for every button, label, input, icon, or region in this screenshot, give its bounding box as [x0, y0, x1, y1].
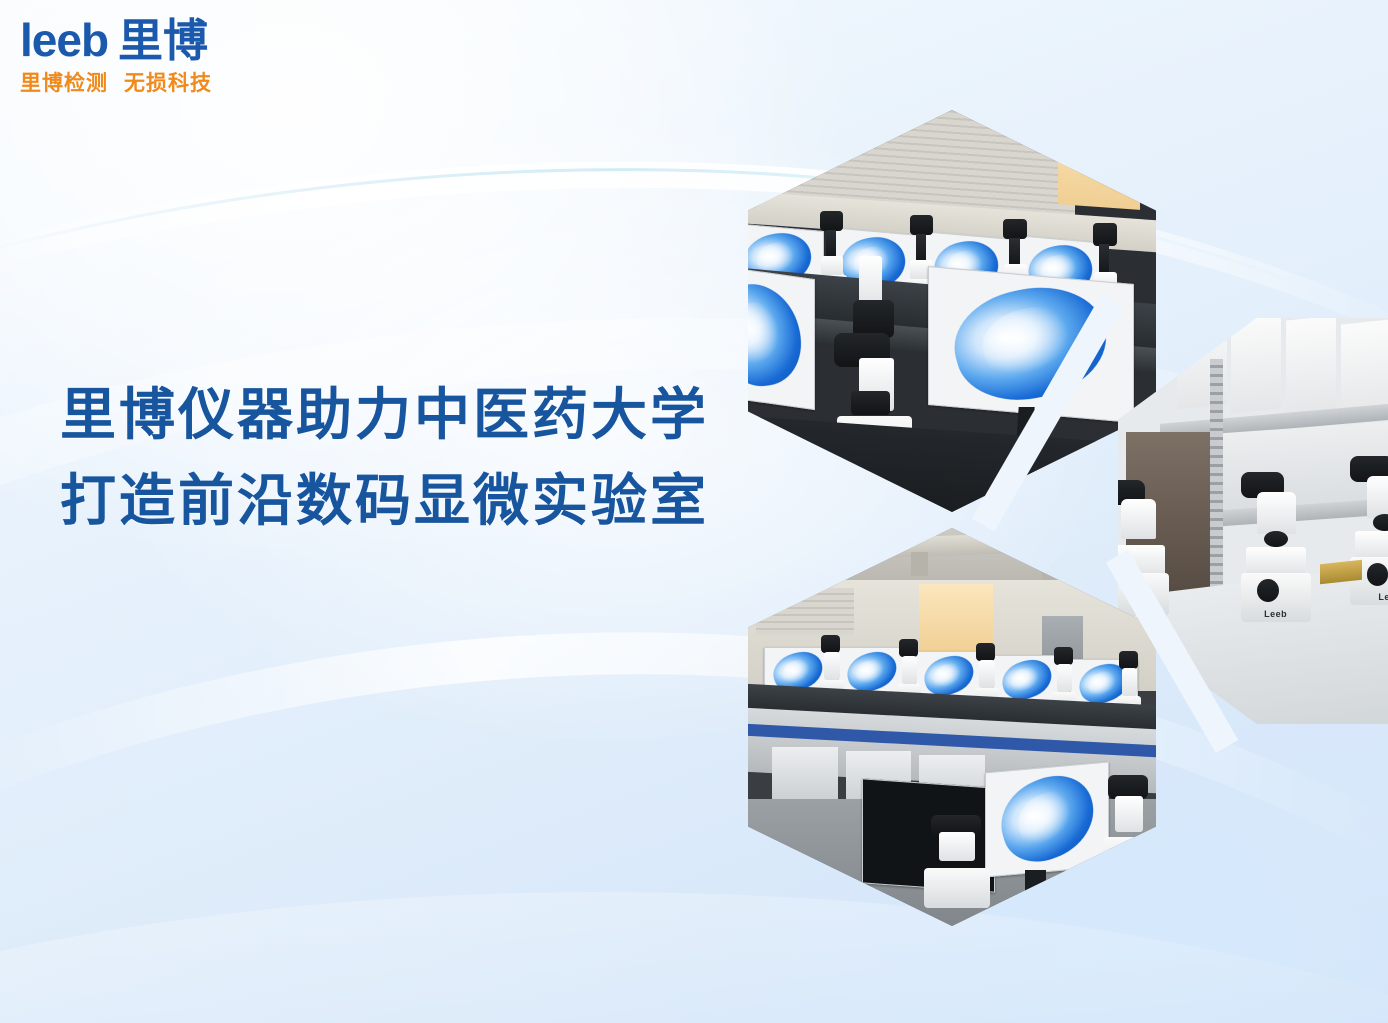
photo-hex-bottom	[748, 528, 1156, 926]
lab-bench-photo: Leeb	[748, 110, 1156, 512]
warehouse-microscopes-photo: Leeb Leeb	[1118, 318, 1388, 724]
headline-block: 里博仪器助力中医药大学 打造前沿数码显微实验室	[60, 372, 760, 544]
brand-logo: leeb里博 里博检测无损科技	[20, 16, 320, 97]
poster-canvas: leeb里博 里博检测无损科技 里博仪器助力中医药大学 打造前沿数码显微实验室	[0, 0, 1388, 1023]
lab-overview-photo	[748, 528, 1156, 926]
photo-hex-top: Leeb	[748, 110, 1156, 512]
logo-latin-text: leeb	[20, 14, 108, 66]
background-glow-bottom-right	[688, 603, 1388, 1023]
logo-chinese-text: 里博	[118, 15, 208, 66]
logo-tagline-right: 无损科技	[124, 72, 212, 95]
logo-wordmark: leeb里博	[20, 16, 320, 64]
logo-tagline-left: 里博检测	[20, 72, 108, 95]
hex-seam-top-right	[972, 294, 1125, 532]
headline-line-1: 里博仪器助力中医药大学	[60, 372, 760, 458]
photo-hex-right: Leeb Leeb	[1118, 318, 1388, 724]
headline-line-2: 打造前沿数码显微实验室	[60, 458, 760, 544]
instrument-brand-mark: Leeb	[1264, 609, 1287, 619]
logo-tagline: 里博检测无损科技	[20, 67, 320, 97]
instrument-brand-mark: Leeb	[1378, 592, 1388, 602]
instrument-brand-mark: Leeb	[857, 464, 882, 475]
hex-seam-right-bottom	[1106, 550, 1239, 754]
